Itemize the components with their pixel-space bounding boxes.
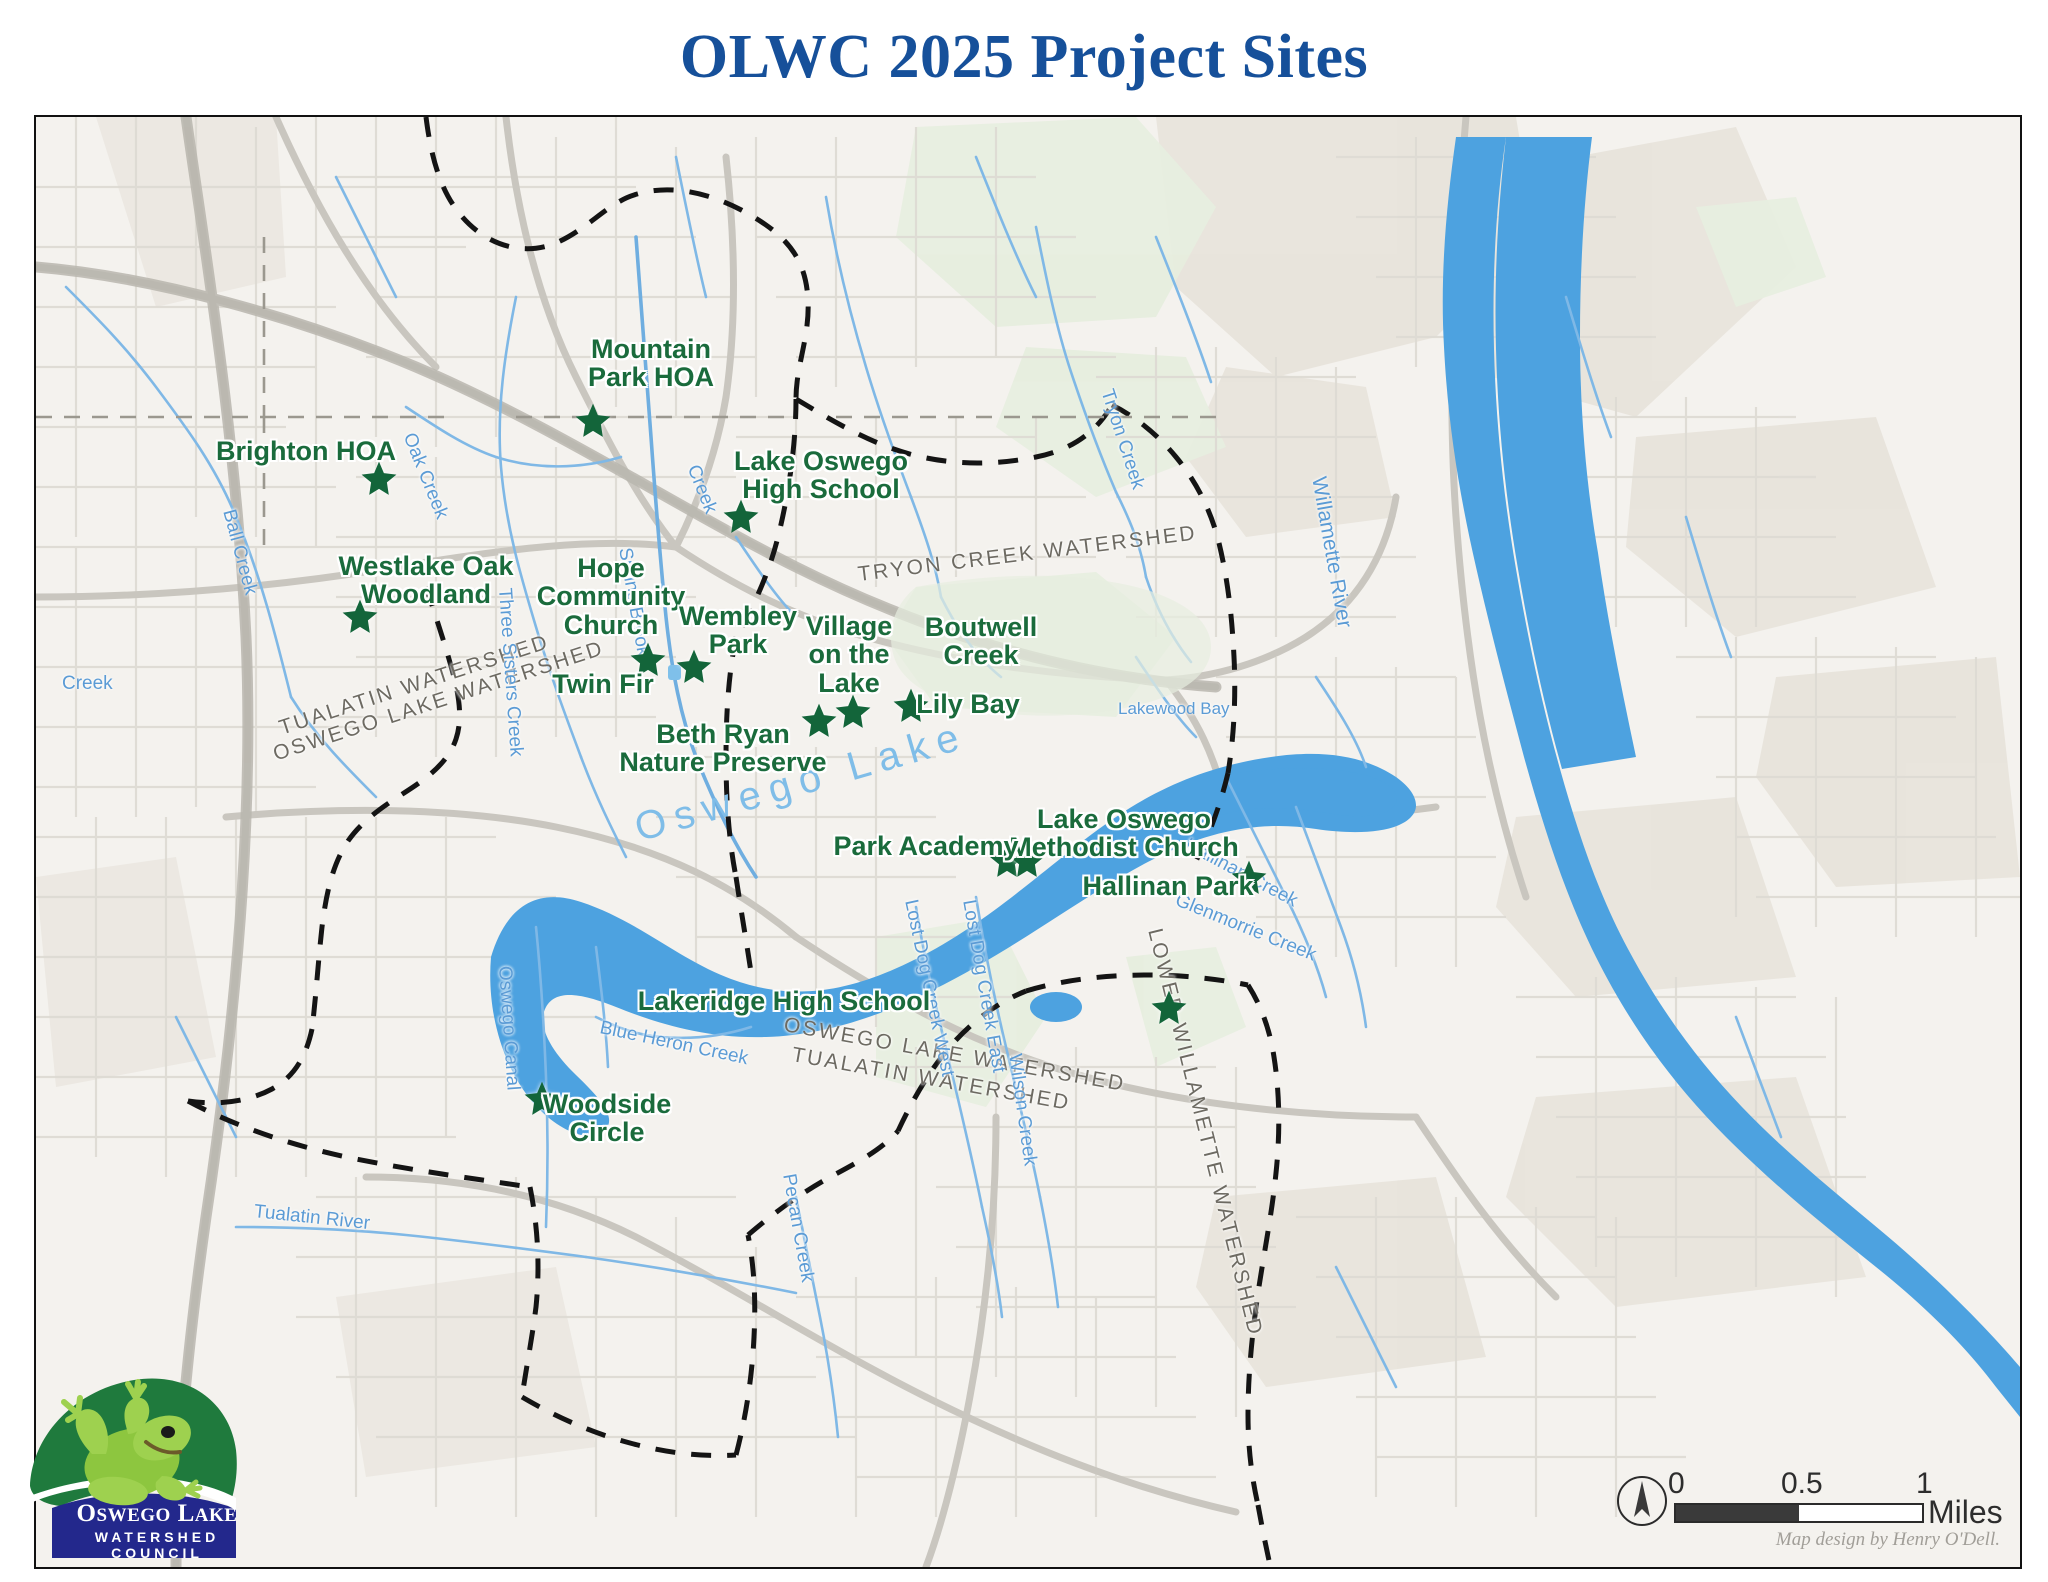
site-star[interactable] [359, 460, 399, 498]
site-star[interactable] [522, 1080, 562, 1118]
site-star[interactable] [799, 702, 839, 740]
scale-bar-fill [1676, 1505, 1799, 1521]
site-star[interactable] [721, 498, 761, 536]
scale-bar-graphic [1674, 1503, 1924, 1523]
page-title: OLWC 2025 Project Sites [0, 22, 2048, 93]
site-star[interactable] [573, 402, 613, 440]
logo-subtitle: WATERSHED COUNCIL [62, 1529, 252, 1561]
site-star[interactable] [628, 641, 668, 679]
site-star[interactable] [674, 648, 714, 686]
scale-tick-0: 0 [1668, 1467, 1685, 1501]
site-star[interactable] [340, 598, 380, 636]
creek-label: Lakewood Bay [1118, 699, 1230, 719]
scale-tick-0-5: 0.5 [1781, 1467, 1823, 1501]
site-star[interactable] [891, 687, 931, 725]
creek-label: Creek [62, 673, 113, 695]
map-credit: Map design by Henry O'Dell. [1776, 1529, 2000, 1551]
logo-text: OSWEGO LAKE WATERSHED COUNCIL [62, 1501, 252, 1561]
scale-unit-label: Miles [1928, 1494, 2003, 1531]
scale-bar: 0 0.5 1 Miles Map design by Henry O'Dell… [1616, 1447, 2006, 1557]
site-star[interactable] [1007, 842, 1047, 880]
map-frame[interactable]: TUALATIN WATERSHED OSWEGO LAKE WATERSHED… [34, 115, 2022, 1569]
scale-tick-labels: 0 0.5 1 [1674, 1467, 1924, 1501]
site-star[interactable] [1149, 989, 1189, 1027]
logo-name: OSWEGO LAKE [62, 1501, 252, 1526]
site-star[interactable] [1229, 859, 1269, 897]
north-arrow-icon [1616, 1475, 1668, 1527]
olwc-logo: OSWEGO LAKE WATERSHED COUNCIL [22, 1358, 252, 1563]
site-star[interactable] [833, 693, 873, 731]
